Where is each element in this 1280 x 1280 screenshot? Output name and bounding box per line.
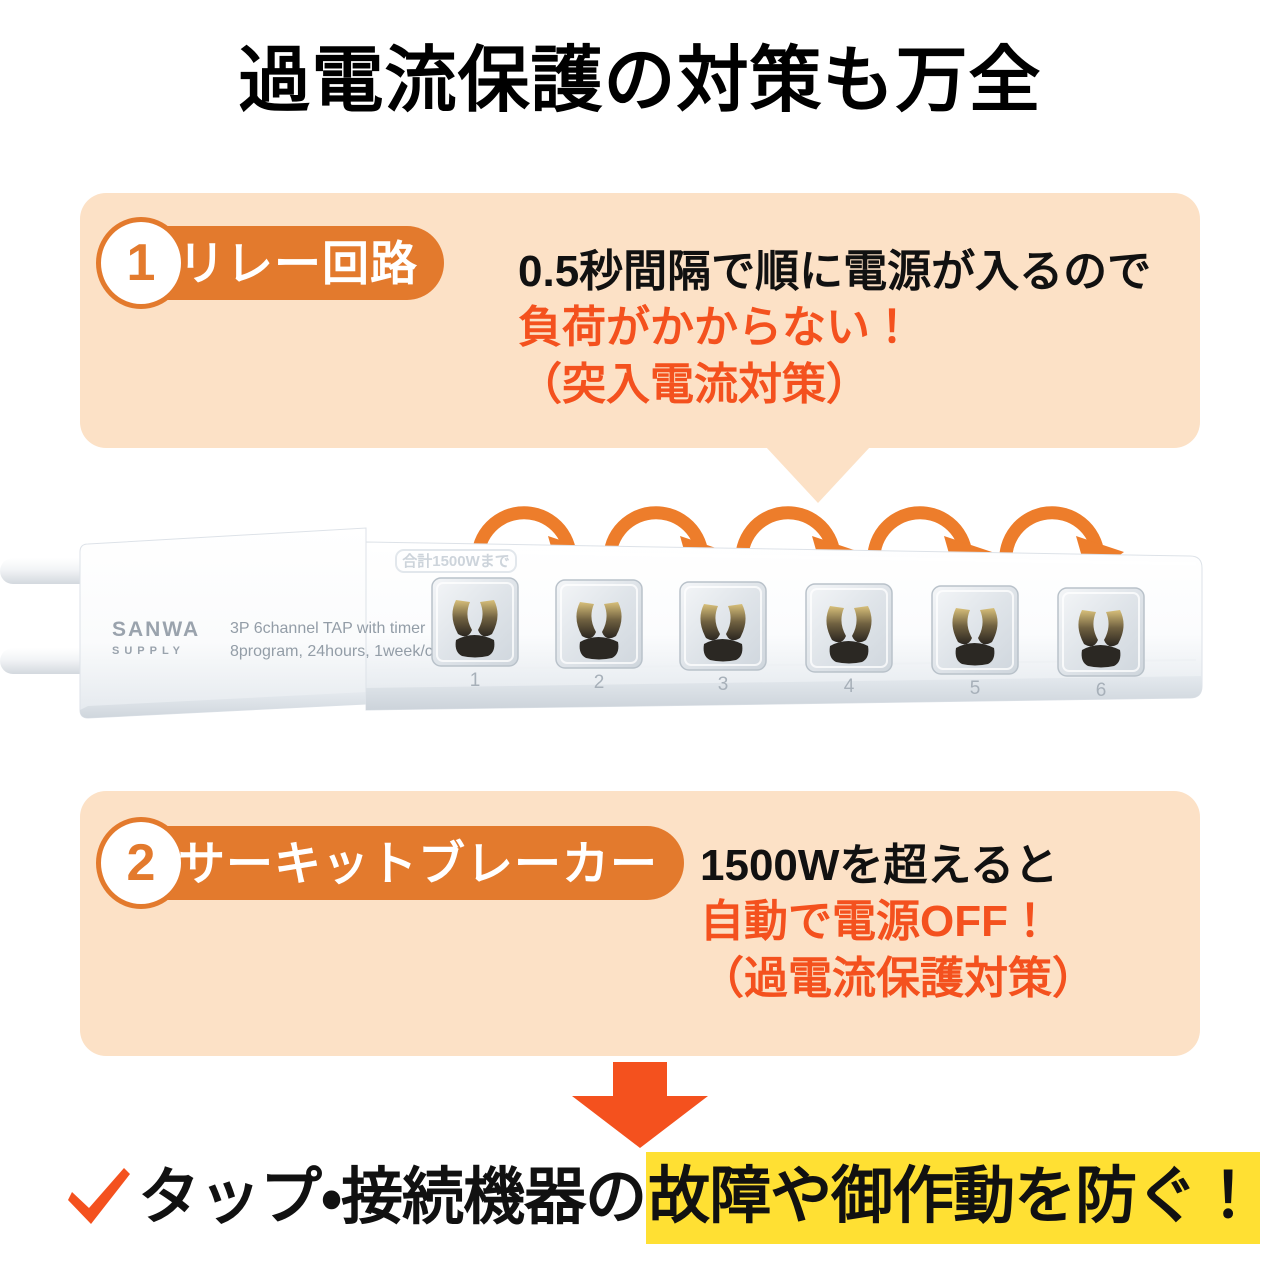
feature-body-2: 1500Wを超えると 自動で電源OFF！ （過電流保護対策） [700,838,1096,1007]
feature-2-line-1: 1500Wを超えると [700,838,1096,894]
feature-2-line-2: 自動で電源OFF！ [700,894,1096,950]
feature-badge-2: 2 サーキットブレーカー [104,826,684,900]
feature-number-1: 1 [96,217,186,309]
feature-1-line-3: （突入電流対策） [518,357,1151,413]
power-strip-product-image: 合計1500Wまで SANWA SUPPLY 3P 6channel TAP w… [0,520,1280,750]
feature-2-line-3: （過電流保護対策） [700,951,1096,1007]
svg-text:SANWA: SANWA [112,618,200,641]
conclusion-plain-text: タップ・接続機器の [138,1167,646,1229]
svg-text:3: 3 [718,674,729,695]
svg-text:1: 1 [470,670,481,691]
svg-text:6: 6 [1096,680,1107,701]
down-arrow-icon [572,1062,708,1148]
svg-text:5: 5 [970,678,981,699]
svg-text:SUPPLY: SUPPLY [112,645,185,657]
svg-text:2: 2 [594,672,605,693]
page-title: 過電流保護の対策も万全 [0,42,1280,121]
svg-text:4: 4 [844,676,855,697]
feature-badge-label-2: サーキットブレーカー [178,840,658,887]
feature-1-line-2: 負荷がかからない！ [518,300,1151,356]
feature-body-1: 0.5秒間隔で順に電源が入るので 負荷がかからない！ （突入電流対策） [518,244,1151,413]
feature-badge-1: 1 リレー回路 [104,226,444,300]
conclusion-line: タップ・接続機器の 故障や御作動を防ぐ！ [62,1152,1260,1244]
feature-1-line-1: 0.5秒間隔で順に電源が入るので [518,244,1151,300]
conclusion-highlighted-text: 故障や御作動を防ぐ！ [646,1152,1260,1244]
feature-badge-label-1: リレー回路 [178,240,418,287]
svg-text:8program, 24hours, 1week/cycle: 8program, 24hours, 1week/cycle [230,643,461,660]
check-icon [62,1162,134,1234]
rating-label-text: 合計1500Wまで [402,552,510,570]
feature-number-2: 2 [96,817,186,909]
infographic-root: 過電流保護の対策も万全 1 リレー回路 0.5秒間隔で順に電源が入るので 負荷が… [0,0,1280,1280]
svg-text:3P 6channel TAP with timer: 3P 6channel TAP with timer [230,620,426,637]
